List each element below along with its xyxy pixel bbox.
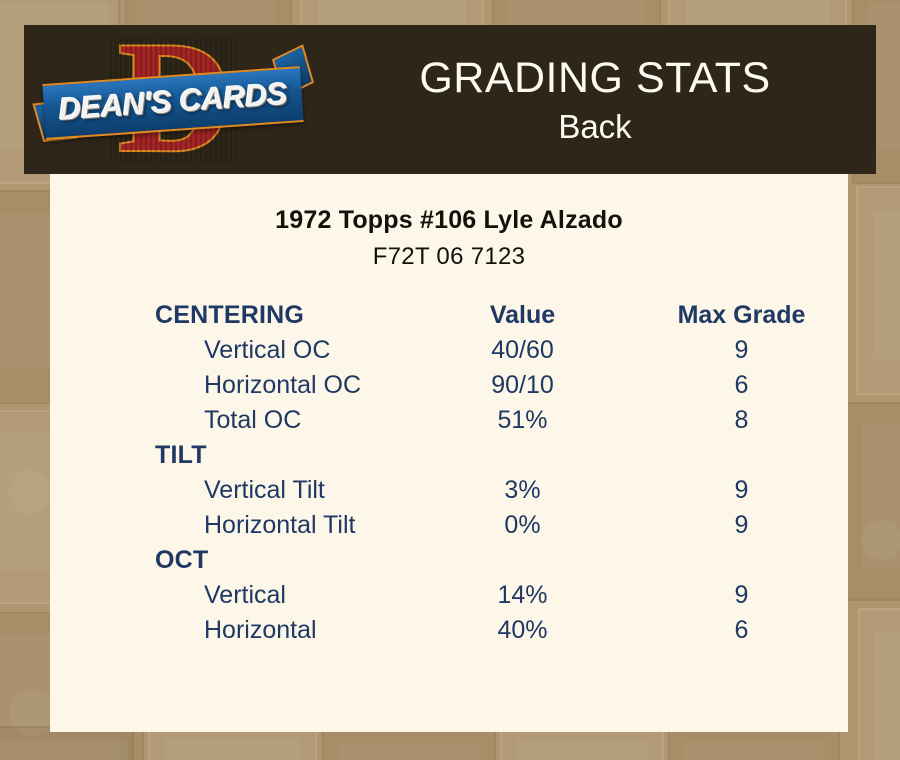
table-row: Horizontal 40% 6: [50, 613, 848, 648]
table-row: Vertical 14% 9: [50, 578, 848, 613]
stat-value: 14%: [410, 578, 635, 613]
content-panel: 1972 Topps #106 Lyle Alzado F72T 06 7123…: [50, 174, 848, 732]
section-spacer: [410, 438, 635, 473]
section-header-oct: OCT: [50, 543, 410, 578]
stat-value: 90/10: [410, 368, 635, 403]
stat-value: 40%: [410, 613, 635, 648]
stat-max-grade: 6: [635, 613, 848, 648]
stat-label: Vertical OC: [50, 333, 410, 368]
stat-max-grade: 9: [635, 508, 848, 543]
table-row: Horizontal Tilt 0% 9: [50, 508, 848, 543]
section-spacer: [635, 543, 848, 578]
section-header-row: TILT: [50, 438, 848, 473]
column-header-max-grade: Max Grade: [635, 298, 848, 333]
section-spacer: [635, 438, 848, 473]
table-row: Total OC 51% 8: [50, 403, 848, 438]
stat-label: Total OC: [50, 403, 410, 438]
stat-max-grade: 6: [635, 368, 848, 403]
table-row: Vertical OC 40/60 9: [50, 333, 848, 368]
column-header-centering: CENTERING: [50, 298, 410, 333]
grading-stats-table: CENTERING Value Max Grade Vertical OC 40…: [50, 298, 848, 648]
stat-max-grade: 9: [635, 333, 848, 368]
header-bar: D DEAN'S CARDS GRADING STATS Back: [24, 25, 876, 174]
card-serial-number: F72T 06 7123: [50, 243, 848, 271]
stat-label: Horizontal OC: [50, 368, 410, 403]
page-title: GRADING STATS: [419, 52, 770, 104]
table-header-row: CENTERING Value Max Grade: [50, 298, 848, 333]
section-spacer: [410, 543, 635, 578]
stat-value: 3%: [410, 473, 635, 508]
stat-max-grade: 8: [635, 403, 848, 438]
stat-max-grade: 9: [635, 578, 848, 613]
stat-label: Horizontal Tilt: [50, 508, 410, 543]
stat-value: 51%: [410, 403, 635, 438]
section-header-row: OCT: [50, 543, 848, 578]
logo-wordmark: DEAN'S CARDS: [43, 68, 304, 136]
page-root: D DEAN'S CARDS GRADING STATS Back 1972 T…: [0, 0, 900, 760]
table-body: Vertical OC 40/60 9 Horizontal OC 90/10 …: [50, 333, 848, 648]
stat-value: 40/60: [410, 333, 635, 368]
stat-label: Vertical Tilt: [50, 473, 410, 508]
table-header: CENTERING Value Max Grade: [50, 298, 848, 333]
deans-cards-logo[interactable]: D DEAN'S CARDS: [44, 29, 304, 171]
table-row: Horizontal OC 90/10 6: [50, 368, 848, 403]
header-title-group: GRADING STATS Back: [314, 25, 876, 174]
stat-max-grade: 9: [635, 473, 848, 508]
table-row: Vertical Tilt 3% 9: [50, 473, 848, 508]
stat-label: Vertical: [50, 578, 410, 613]
stat-label: Horizontal: [50, 613, 410, 648]
page-subtitle: Back: [558, 106, 631, 148]
column-header-value: Value: [410, 298, 635, 333]
stat-value: 0%: [410, 508, 635, 543]
section-header-tilt: TILT: [50, 438, 410, 473]
card-title: 1972 Topps #106 Lyle Alzado: [50, 206, 848, 235]
